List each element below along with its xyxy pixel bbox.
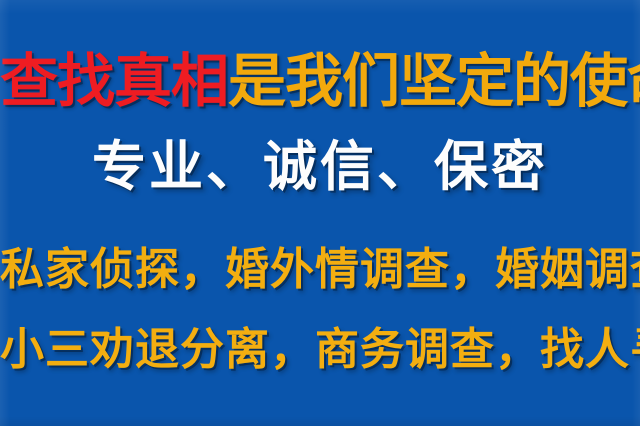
services-line-1: 私家侦探，婚外情调查，婚姻调查， bbox=[0, 248, 640, 292]
headline: 查找真相是我们坚定的使命 bbox=[0, 52, 640, 110]
headline-rest-text: 是我们坚定的使命 bbox=[228, 52, 640, 110]
services-line-2: 小三劝退分离，商务调查，找人寻人 bbox=[0, 328, 640, 372]
headline-emphasis-text: 查找真相 bbox=[0, 52, 228, 110]
slogan-text: 专业、诚信、保密 bbox=[0, 140, 640, 194]
advertisement-banner: 查找真相是我们坚定的使命 专业、诚信、保密 私家侦探，婚外情调查，婚姻调查， 小… bbox=[0, 0, 640, 426]
